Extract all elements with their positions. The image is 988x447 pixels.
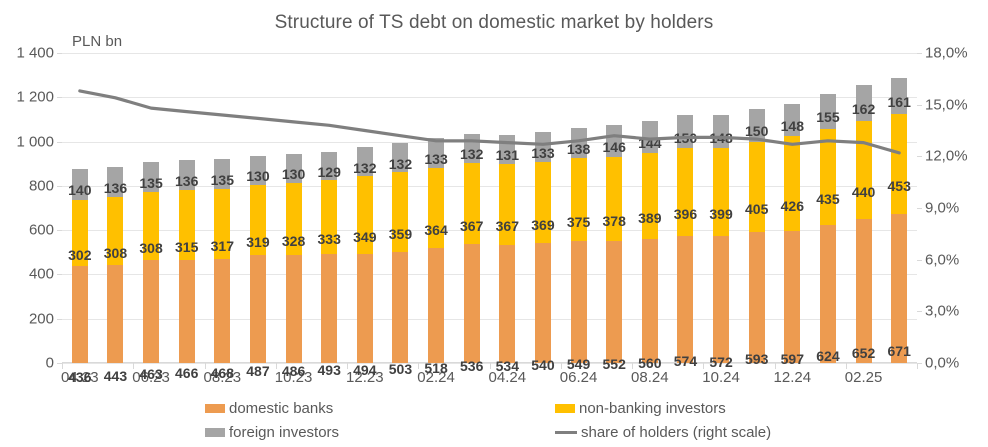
data-label-non-banking-investors: 328 <box>282 233 305 249</box>
y-axis-left-tick-label: 1 400 <box>0 45 54 62</box>
bar-segment-non-banking-investors <box>856 121 872 218</box>
bar-segment-domestic-banks <box>214 259 230 363</box>
data-label-non-banking-investors: 308 <box>139 240 162 256</box>
y-axis-right-tick-label: 12,0% <box>925 148 987 165</box>
bar-segment-non-banking-investors <box>820 129 836 225</box>
non-banking-investors-swatch-icon <box>555 404 575 413</box>
y-axis-left-tick-label: 400 <box>0 266 54 283</box>
bar-segment-domestic-banks <box>642 239 658 363</box>
stacked-bar[interactable] <box>107 53 123 363</box>
bar-segment-domestic-banks <box>713 236 729 363</box>
data-label-non-banking-investors: 369 <box>531 217 554 233</box>
data-label-domestic-banks: 597 <box>781 351 804 367</box>
y-axis-right-tick-label: 15,0% <box>925 96 987 113</box>
y-axis-right-tick <box>917 53 922 54</box>
bar-segment-domestic-banks <box>428 248 444 363</box>
legend-item-non-banking-investors[interactable]: non-banking investors <box>555 400 726 417</box>
legend-item-foreign-investors[interactable]: foreign investors <box>205 424 339 441</box>
data-label-non-banking-investors: 389 <box>638 210 661 226</box>
data-label-foreign-investors: 135 <box>211 172 234 188</box>
data-label-domestic-banks: 549 <box>567 356 590 372</box>
stacked-bar[interactable] <box>143 53 159 363</box>
data-label-foreign-investors: 132 <box>353 160 376 176</box>
data-label-non-banking-investors: 378 <box>603 213 626 229</box>
stacked-bar[interactable] <box>535 53 551 363</box>
bar-segment-non-banking-investors <box>891 114 907 214</box>
data-label-domestic-banks: 624 <box>816 348 839 364</box>
stacked-bar[interactable] <box>321 53 337 363</box>
bar-segment-non-banking-investors <box>677 148 693 236</box>
bar-segment-domestic-banks <box>856 219 872 363</box>
data-label-foreign-investors: 155 <box>816 109 839 125</box>
bar-segment-domestic-banks <box>499 245 515 363</box>
y-axis-right-tick-label: 9,0% <box>925 200 987 217</box>
bar-segment-domestic-banks <box>749 232 765 363</box>
bar-segment-domestic-banks <box>392 252 408 363</box>
x-axis-tick-label: 08.24 <box>631 369 669 386</box>
data-label-domestic-banks: 593 <box>745 351 768 367</box>
y-axis-left-tick <box>57 230 62 231</box>
data-label-non-banking-investors: 405 <box>745 201 768 217</box>
share-of-holders-line-swatch-icon <box>555 431 577 434</box>
data-label-foreign-investors: 135 <box>139 175 162 191</box>
stacked-bar[interactable] <box>820 53 836 363</box>
data-label-non-banking-investors: 453 <box>888 178 911 194</box>
bar-segment-domestic-banks <box>357 254 373 363</box>
x-axis-tick <box>917 363 918 369</box>
data-label-non-banking-investors: 440 <box>852 184 875 200</box>
legend-label: domestic banks <box>229 400 333 417</box>
data-label-non-banking-investors: 435 <box>816 191 839 207</box>
bar-segment-non-banking-investors <box>642 153 658 239</box>
bar-segment-domestic-banks <box>820 225 836 363</box>
y-axis-right-tick <box>917 208 922 209</box>
data-label-foreign-investors: 148 <box>709 130 732 146</box>
data-label-foreign-investors: 146 <box>603 139 626 155</box>
y-axis-left-tick <box>57 186 62 187</box>
y-axis-right-tick <box>917 105 922 106</box>
bar-segment-domestic-banks <box>571 241 587 363</box>
y-axis-left-tick-label: 600 <box>0 222 54 239</box>
chart-title: Structure of TS debt on domestic market … <box>0 12 988 34</box>
data-label-foreign-investors: 150 <box>674 130 697 146</box>
data-label-foreign-investors: 136 <box>175 173 198 189</box>
data-label-non-banking-investors: 315 <box>175 239 198 255</box>
y-axis-right-tick <box>917 156 922 157</box>
y-axis-right-tick-label: 3,0% <box>925 303 987 320</box>
stacked-bar[interactable] <box>250 53 266 363</box>
stacked-bar[interactable] <box>179 53 195 363</box>
data-label-foreign-investors: 132 <box>389 156 412 172</box>
data-label-non-banking-investors: 364 <box>424 222 447 238</box>
y-axis-right-tick-label: 18,0% <box>925 45 987 62</box>
bar-segment-domestic-banks <box>107 265 123 363</box>
data-label-non-banking-investors: 359 <box>389 226 412 242</box>
data-label-domestic-banks: 671 <box>888 343 911 359</box>
data-label-domestic-banks: 468 <box>211 365 234 381</box>
y-axis-left-tick <box>57 53 62 54</box>
data-label-foreign-investors: 144 <box>638 135 661 151</box>
chart-container: Structure of TS debt on domestic market … <box>0 0 988 447</box>
x-axis-tick-label: 02.25 <box>845 369 883 386</box>
y-axis-left-tick <box>57 319 62 320</box>
bar-segment-domestic-banks <box>321 254 337 363</box>
data-label-non-banking-investors: 302 <box>68 247 91 263</box>
y-axis-right-tick-label: 0,0% <box>925 355 987 372</box>
data-label-non-banking-investors: 367 <box>496 218 519 234</box>
stacked-bar[interactable] <box>286 53 302 363</box>
y-axis-left-tick-label: 1 000 <box>0 133 54 150</box>
stacked-bar[interactable] <box>428 53 444 363</box>
foreign-investors-swatch-icon <box>205 428 225 437</box>
data-label-foreign-investors: 131 <box>496 147 519 163</box>
x-axis-tick-label: 12.24 <box>774 369 812 386</box>
data-label-domestic-banks: 443 <box>104 368 127 384</box>
y-axis-left-tick <box>57 274 62 275</box>
stacked-bar[interactable] <box>856 53 872 363</box>
data-label-non-banking-investors: 319 <box>246 234 269 250</box>
x-axis-tick-label: 10.24 <box>702 369 740 386</box>
legend-label: share of holders (right scale) <box>581 424 771 441</box>
legend-label: foreign investors <box>229 424 339 441</box>
bar-segment-domestic-banks <box>891 214 907 363</box>
data-label-non-banking-investors: 349 <box>353 229 376 245</box>
stacked-bar[interactable] <box>464 53 480 363</box>
bar-segment-domestic-banks <box>535 243 551 363</box>
legend-item-domestic-banks[interactable]: domestic banks <box>205 400 333 417</box>
stacked-bar[interactable] <box>392 53 408 363</box>
data-label-foreign-investors: 133 <box>424 151 447 167</box>
stacked-bar[interactable] <box>642 53 658 363</box>
data-label-domestic-banks: 572 <box>709 354 732 370</box>
data-label-foreign-investors: 133 <box>531 145 554 161</box>
data-label-foreign-investors: 129 <box>318 164 341 180</box>
data-label-non-banking-investors: 308 <box>104 245 127 261</box>
bar-segment-domestic-banks <box>286 255 302 363</box>
data-label-foreign-investors: 132 <box>460 146 483 162</box>
data-label-domestic-banks: 574 <box>674 353 697 369</box>
y-axis-left-tick-label: 0 <box>0 355 54 372</box>
data-label-domestic-banks: 540 <box>531 357 554 373</box>
data-label-non-banking-investors: 333 <box>318 231 341 247</box>
bar-segment-domestic-banks <box>677 236 693 363</box>
data-label-non-banking-investors: 426 <box>781 198 804 214</box>
data-label-foreign-investors: 161 <box>888 94 911 110</box>
data-label-non-banking-investors: 317 <box>211 238 234 254</box>
data-label-domestic-banks: 536 <box>460 358 483 374</box>
bar-segment-non-banking-investors <box>784 136 800 230</box>
y-axis-right-tick-label: 6,0% <box>925 251 987 268</box>
bar-segment-non-banking-investors <box>713 148 729 236</box>
stacked-bar[interactable] <box>606 53 622 363</box>
legend-label: non-banking investors <box>579 400 726 417</box>
stacked-bar[interactable] <box>499 53 515 363</box>
legend-item-share-of-holders[interactable]: share of holders (right scale) <box>555 424 771 441</box>
data-label-domestic-banks: 552 <box>603 356 626 372</box>
data-label-foreign-investors: 136 <box>104 180 127 196</box>
data-label-non-banking-investors: 375 <box>567 214 590 230</box>
bar-segment-domestic-banks <box>179 260 195 363</box>
stacked-bar[interactable] <box>357 53 373 363</box>
chart-legend: domestic banks foreign investors non-ban… <box>150 398 850 446</box>
bar-segment-non-banking-investors <box>749 142 765 232</box>
y-axis-left-tick-label: 200 <box>0 310 54 327</box>
stacked-bar[interactable] <box>571 53 587 363</box>
data-label-domestic-banks: 487 <box>246 363 269 379</box>
y-axis-left-tick <box>57 97 62 98</box>
bar-segment-domestic-banks <box>784 231 800 363</box>
data-label-domestic-banks: 652 <box>852 345 875 361</box>
data-label-non-banking-investors: 367 <box>460 218 483 234</box>
bar-segment-domestic-banks <box>72 266 88 363</box>
domestic-banks-swatch-icon <box>205 404 225 413</box>
y-axis-right-tick <box>917 260 922 261</box>
y-axis-right-tick <box>917 311 922 312</box>
data-label-domestic-banks: 486 <box>282 363 305 379</box>
y-axis-left-tick-label: 1 200 <box>0 89 54 106</box>
y-axis-left-tick <box>57 142 62 143</box>
bar-segment-domestic-banks <box>464 244 480 363</box>
data-label-domestic-banks: 560 <box>638 355 661 371</box>
data-label-foreign-investors: 130 <box>282 166 305 182</box>
bar-segment-domestic-banks <box>606 241 622 363</box>
data-label-domestic-banks: 463 <box>139 366 162 382</box>
stacked-bar[interactable] <box>214 53 230 363</box>
stacked-bar[interactable] <box>72 53 88 363</box>
data-label-non-banking-investors: 399 <box>709 206 732 222</box>
data-label-domestic-banks: 493 <box>318 362 341 378</box>
data-label-domestic-banks: 503 <box>389 361 412 377</box>
data-label-domestic-banks: 518 <box>424 360 447 376</box>
data-label-domestic-banks: 466 <box>175 365 198 381</box>
data-label-foreign-investors: 130 <box>246 168 269 184</box>
y-axis-left-tick-label: 800 <box>0 177 54 194</box>
data-label-foreign-investors: 140 <box>68 182 91 198</box>
data-label-foreign-investors: 150 <box>745 123 768 139</box>
data-label-foreign-investors: 148 <box>781 118 804 134</box>
bar-segment-domestic-banks <box>143 260 159 363</box>
y-axis-unit-caption: PLN bn <box>72 33 122 50</box>
bar-segment-domestic-banks <box>250 255 266 363</box>
data-label-foreign-investors: 138 <box>567 141 590 157</box>
data-label-domestic-banks: 436 <box>68 369 91 385</box>
data-label-foreign-investors: 162 <box>852 101 875 117</box>
data-label-domestic-banks: 534 <box>496 358 519 374</box>
data-label-non-banking-investors: 396 <box>674 206 697 222</box>
data-label-domestic-banks: 494 <box>353 362 376 378</box>
